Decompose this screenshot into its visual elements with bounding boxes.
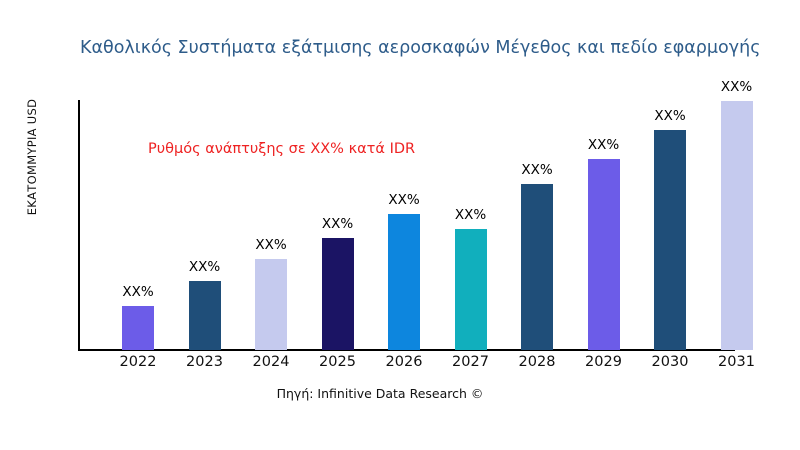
bar-2023[interactable] (189, 281, 221, 350)
bar-value-label-2027: XX% (438, 207, 504, 223)
bar-group-2027[interactable]: XX% (438, 100, 504, 350)
bar-group-2025[interactable]: XX% (305, 100, 371, 350)
bar-2024[interactable] (255, 259, 287, 350)
x-tick-2029: 2029 (571, 354, 637, 370)
bar-group-2023[interactable]: XX% (172, 100, 238, 350)
x-tick-2027: 2027 (438, 354, 504, 370)
bar-group-2026[interactable]: XX% (371, 100, 437, 350)
bar-group-2028[interactable]: XX% (504, 100, 570, 350)
bar-value-label-2023: XX% (172, 259, 238, 275)
bar-2030[interactable] (654, 130, 686, 350)
bar-2026[interactable] (388, 214, 420, 350)
x-tick-2023: 2023 (172, 354, 238, 370)
source-caption: Πηγή: Infinitive Data Research © (0, 386, 760, 401)
bar-value-label-2022: XX% (105, 284, 171, 300)
bar-2028[interactable] (521, 184, 553, 350)
bar-group-2030[interactable]: XX% (637, 100, 703, 350)
bar-value-label-2031: XX% (704, 79, 770, 95)
y-axis-label: ΕΚΑΤΟΜΜΥΡΙΑ USD (25, 67, 39, 247)
x-tick-2028: 2028 (504, 354, 570, 370)
chart-title: Καθολικός Συστήματα εξάτμισης αεροσκαφών… (80, 36, 800, 60)
x-tick-2031: 2031 (704, 354, 770, 370)
bar-value-label-2024: XX% (238, 237, 304, 253)
bar-group-2022[interactable]: XX% (105, 100, 171, 350)
bar-value-label-2030: XX% (637, 108, 703, 124)
x-tick-2024: 2024 (238, 354, 304, 370)
bar-value-label-2028: XX% (504, 162, 570, 178)
x-tick-2025: 2025 (305, 354, 371, 370)
bar-group-2024[interactable]: XX% (238, 100, 304, 350)
bar-value-label-2025: XX% (305, 216, 371, 232)
x-tick-2030: 2030 (637, 354, 703, 370)
bar-2031[interactable] (721, 101, 753, 350)
plot-area: XX%XX%XX%XX%XX%XX%XX%XX%XX%XX% (78, 100, 788, 350)
bar-2029[interactable] (588, 159, 620, 350)
bar-group-2031[interactable]: XX% (704, 100, 770, 350)
bar-value-label-2029: XX% (571, 137, 637, 153)
bar-value-label-2026: XX% (371, 192, 437, 208)
x-axis-tick-labels: 2022202320242025202620272028202920302031 (78, 354, 788, 380)
x-tick-2026: 2026 (371, 354, 437, 370)
bar-2025[interactable] (322, 238, 354, 350)
chart-container: Καθολικός Συστήματα εξάτμισης αεροσκαφών… (0, 0, 800, 450)
bar-2027[interactable] (455, 229, 487, 350)
x-tick-2022: 2022 (105, 354, 171, 370)
bar-group-2029[interactable]: XX% (571, 100, 637, 350)
bar-2022[interactable] (122, 306, 154, 350)
